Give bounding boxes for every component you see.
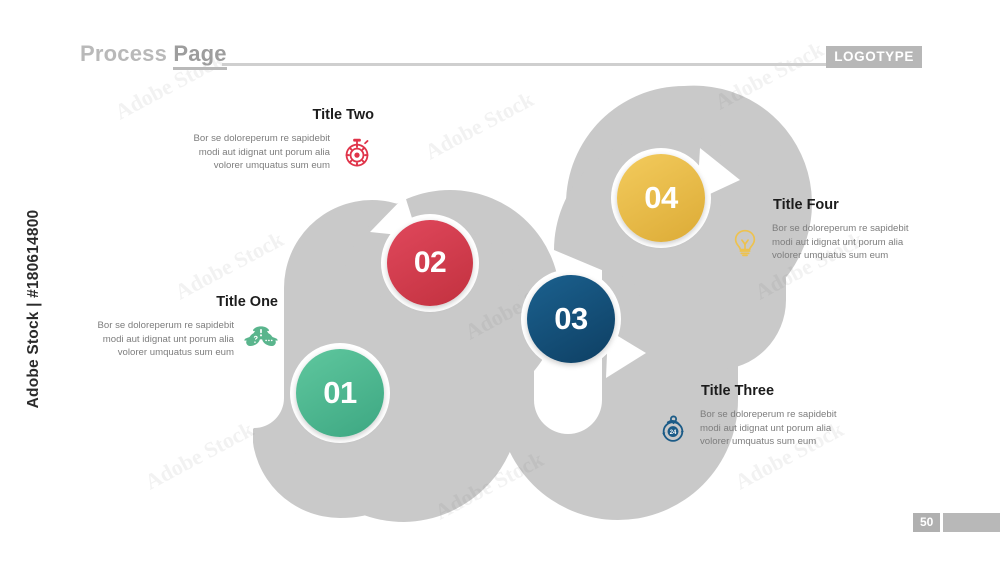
step-body-04: Bor se doloreperum re sapidebit modi aut… [772, 222, 920, 263]
header-divider [222, 63, 846, 66]
step-number-04: 04 [644, 180, 677, 216]
step-block-03: Title Three 24 Bor se doloreperum [656, 383, 848, 449]
step-title-01: Title One [86, 294, 278, 310]
lightbulb-icon [728, 226, 762, 260]
stock-credit-text: Adobe Stock | #180614800 [25, 179, 43, 439]
step-block-01: Title One Bor se doloreperum re sapidebi… [86, 294, 278, 360]
step-node-01[interactable]: 01 [296, 349, 384, 437]
svg-text:Adobe Stock: Adobe Stock [141, 416, 259, 494]
speech-bubbles-icon [244, 323, 278, 357]
step-block-04: Title Four Bor se doloreperum re sapideb… [728, 197, 920, 263]
svg-text:Adobe Stock: Adobe Stock [421, 86, 539, 164]
logotype-badge: LOGOTYPE [826, 46, 922, 68]
stopwatch-icon [340, 136, 374, 170]
step-body-03: Bor se doloreperum re sapidebit modi aut… [700, 408, 848, 449]
step-number-01: 01 [323, 375, 356, 411]
svg-text:Adobe Stock: Adobe Stock [171, 226, 289, 304]
step-number-02: 02 [414, 246, 446, 280]
step-node-03[interactable]: 03 [527, 275, 615, 363]
slide-canvas: Adobe Stock Adobe Stock Adobe Stock Adob… [0, 0, 1000, 562]
process-flow-diagram: Adobe Stock Adobe Stock Adobe Stock Adob… [0, 0, 1000, 562]
page-number-badge: 50 [913, 513, 940, 532]
clock-24-icon: 24 [656, 412, 690, 446]
step-number-03: 03 [554, 301, 587, 337]
page-title-word1: Process [80, 41, 173, 66]
svg-text:Adobe Stock: Adobe Stock [711, 36, 829, 114]
step-title-02: Title Two [182, 107, 374, 123]
stock-credit-strip: Adobe Stock | #180614800 [0, 0, 42, 562]
step-title-03: Title Three [701, 383, 848, 399]
step-block-02: Title Two Bor se doloreperum re sapidebi… [182, 107, 374, 173]
step-body-02: Bor se doloreperum re sapidebit modi aut… [182, 132, 330, 173]
svg-text:24: 24 [670, 430, 677, 436]
page-title: Process Page [80, 41, 227, 67]
step-title-04: Title Four [773, 197, 920, 213]
step-node-02[interactable]: 02 [387, 220, 473, 306]
step-body-01: Bor se doloreperum re sapidebit modi aut… [86, 319, 234, 360]
page-title-word2: Page [173, 41, 226, 70]
footer-bar [943, 513, 1000, 532]
step-node-04[interactable]: 04 [617, 154, 705, 242]
